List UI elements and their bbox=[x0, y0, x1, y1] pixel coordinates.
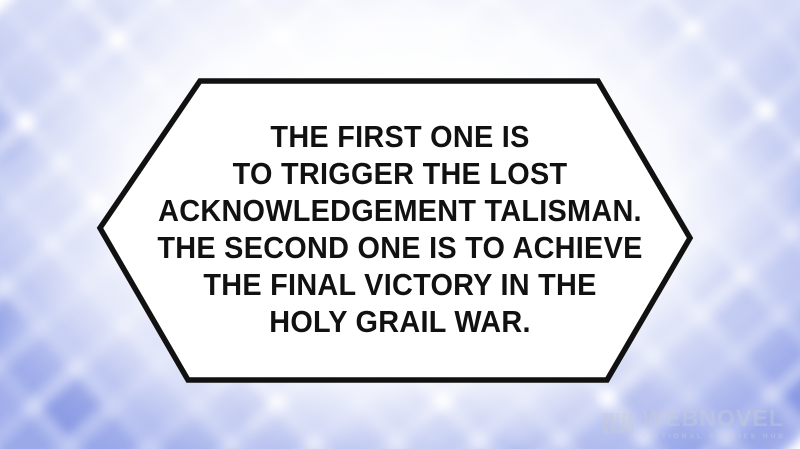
watermark-tagline: FICTIONAL STORIES HUB bbox=[642, 434, 786, 441]
speech-balloon: THE FIRST ONE IS TO TRIGGER THE LOST ACK… bbox=[0, 0, 800, 449]
balloon-dialogue-text: THE FIRST ONE IS TO TRIGGER THE LOST ACK… bbox=[110, 118, 690, 340]
dialogue-line-3: ACKNOWLEDGEMENT TALISMAN. bbox=[130, 192, 669, 229]
comic-panel: THE FIRST ONE IS TO TRIGGER THE LOST ACK… bbox=[0, 0, 800, 449]
watermark-text-block: WEBNOVEL FICTIONAL STORIES HUB bbox=[642, 407, 786, 441]
dialogue-line-1: THE FIRST ONE IS bbox=[130, 118, 669, 155]
dialogue-line-4: THE SECOND ONE IS TO ACHIEVE bbox=[130, 229, 669, 266]
dialogue-line-6: HOLY GRAIL WAR. bbox=[130, 303, 669, 340]
webnovel-open-book-icon bbox=[603, 410, 633, 437]
dialogue-line-5: THE FINAL VICTORY IN THE bbox=[130, 266, 669, 303]
dialogue-line-2: TO TRIGGER THE LOST bbox=[130, 155, 669, 192]
webnovel-watermark: WEBNOVEL FICTIONAL STORIES HUB bbox=[603, 407, 786, 441]
watermark-brand: WEBNOVEL bbox=[642, 407, 786, 430]
